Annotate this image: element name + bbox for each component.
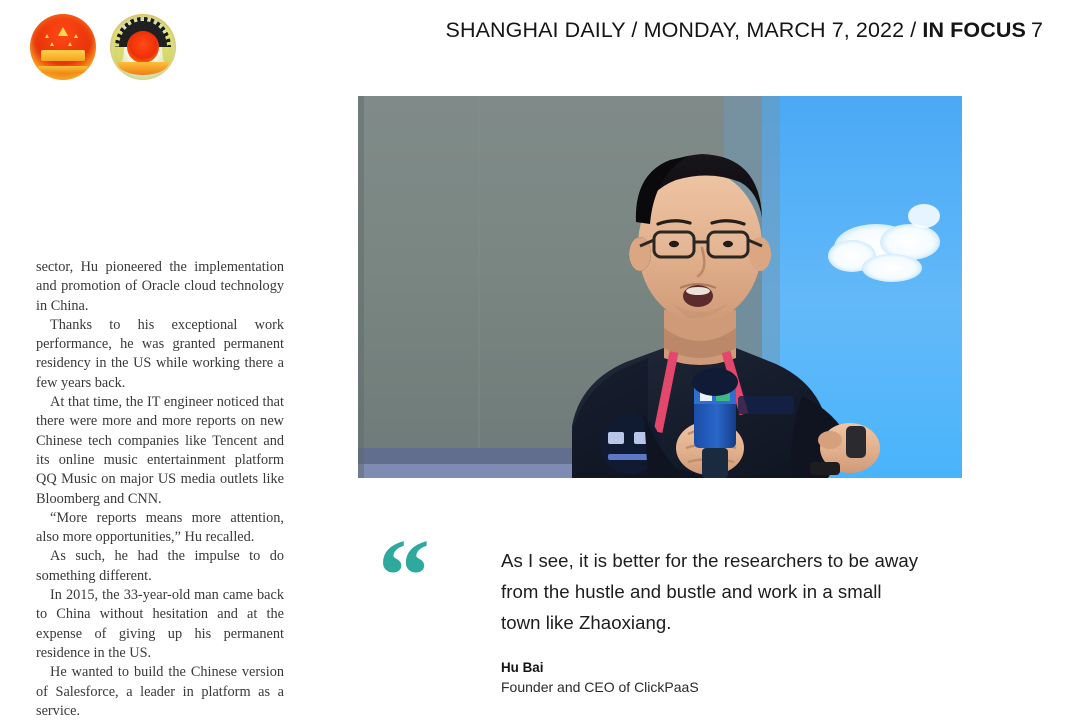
article-paragraph: In 2015, the 33-year-old man came back t… bbox=[36, 586, 284, 663]
quote-mark-icon: “ bbox=[378, 540, 428, 612]
pull-quote-text: As I see, it is better for the researche… bbox=[501, 545, 921, 638]
emblem-star-small bbox=[74, 34, 78, 38]
article-paragraph: At that time, the IT engineer noticed th… bbox=[36, 393, 284, 509]
handheld-clicker bbox=[846, 426, 866, 458]
emblem-group bbox=[30, 14, 176, 80]
emblem-base-shape bbox=[38, 66, 88, 73]
emblem-star-small bbox=[45, 34, 49, 38]
article-paragraph: sector, Hu pioneered the implementation … bbox=[36, 258, 284, 316]
page-number: 7 bbox=[1031, 18, 1043, 42]
article-paragraph: Thanks to his exceptional work performan… bbox=[36, 316, 284, 393]
pull-quote-body: As I see, it is better for the researche… bbox=[501, 545, 921, 697]
emblem-inner-disc bbox=[127, 31, 159, 63]
section-name: IN FOCUS bbox=[922, 18, 1026, 42]
attribution-name: Hu Bai bbox=[501, 659, 921, 677]
masthead-separator-2: / bbox=[904, 18, 922, 42]
national-emblem-of-china-icon bbox=[30, 14, 96, 80]
article-paragraph: “More reports means more attention, also… bbox=[36, 509, 284, 548]
page-masthead: SHANGHAI DAILY / MONDAY, MARCH 7, 2022 /… bbox=[0, 0, 1079, 96]
emblem-star-small bbox=[68, 42, 72, 46]
emblem-star-large bbox=[58, 27, 68, 36]
emblem-ribbon bbox=[117, 62, 170, 75]
masthead-separator-1: / bbox=[625, 18, 643, 42]
article-photo bbox=[358, 96, 962, 478]
publication-name: SHANGHAI DAILY bbox=[446, 18, 626, 42]
article-body-column: sector, Hu pioneered the implementation … bbox=[36, 258, 284, 721]
emblem-gate-shape bbox=[41, 50, 86, 61]
attribution-role: Founder and CEO of ClickPaaS bbox=[501, 677, 921, 697]
article-paragraph: He wanted to build the Chinese version o… bbox=[36, 663, 284, 721]
photo-illustration bbox=[358, 96, 962, 478]
article-paragraph: As such, he had the impulse to do someth… bbox=[36, 547, 284, 586]
publication-date: MONDAY, MARCH 7, 2022 bbox=[644, 18, 905, 42]
pull-quote-attribution: Hu Bai Founder and CEO of ClickPaaS bbox=[501, 659, 921, 697]
masthead-header-line: SHANGHAI DAILY / MONDAY, MARCH 7, 2022 /… bbox=[446, 18, 1043, 43]
cppcc-emblem-icon bbox=[110, 14, 176, 80]
emblem-star-small bbox=[50, 42, 54, 46]
